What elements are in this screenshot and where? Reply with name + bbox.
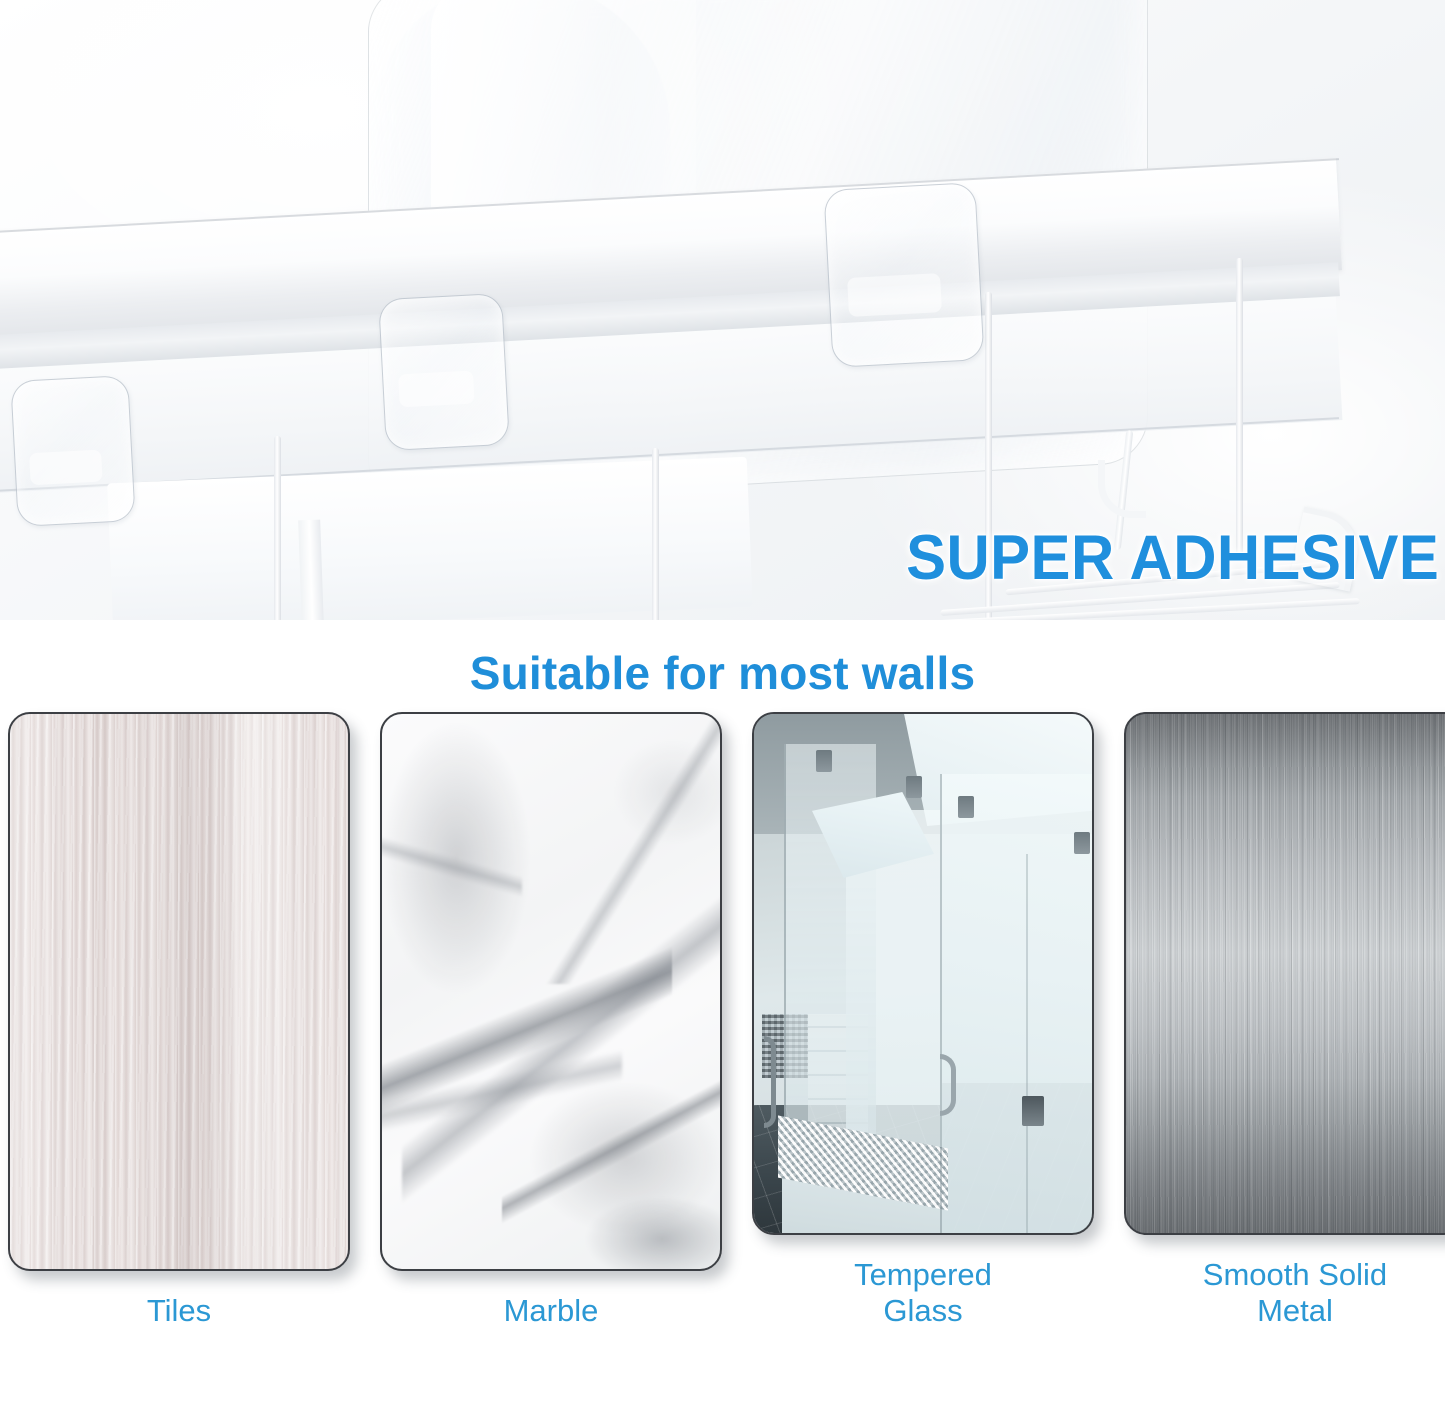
glass-door-handle xyxy=(940,1054,956,1116)
support-post xyxy=(274,436,281,620)
swatch-caption-metal: Smooth Solid Metal xyxy=(1124,1257,1445,1330)
swatch-caption-tiles: Tiles xyxy=(8,1293,350,1330)
glass-clip xyxy=(1074,832,1090,854)
glass-panel-divider xyxy=(1026,854,1028,1235)
product-infographic: SUPER ADHESIVE Suitable for most walls T… xyxy=(0,0,1445,1418)
support-post xyxy=(652,448,659,620)
hero-headline: SUPER ADHESIVE xyxy=(906,522,1439,594)
swatch-cell-tiles[interactable]: Tiles xyxy=(8,712,350,1330)
marble-vein xyxy=(380,714,522,1014)
adhesive-pad xyxy=(378,293,510,451)
swatch-cell-metal[interactable]: Smooth Solid Metal xyxy=(1124,712,1445,1330)
swatch-image-marble[interactable] xyxy=(380,712,722,1271)
swatch-caption-marble: Marble xyxy=(380,1293,722,1330)
adhesive-pad xyxy=(10,375,135,527)
wall-material-swatch-row: Tiles Marble xyxy=(8,712,1437,1330)
swatch-image-tiles[interactable] xyxy=(8,712,350,1271)
shower-fixture xyxy=(764,1036,776,1128)
swatch-cell-tempered-glass[interactable]: Tempered Glass xyxy=(752,712,1094,1330)
hero-product-photo: SUPER ADHESIVE xyxy=(0,0,1445,620)
glass-clip xyxy=(816,750,832,772)
glass-clip xyxy=(958,796,974,818)
shelf-tray-lip xyxy=(298,520,324,620)
glass-clip xyxy=(906,776,922,798)
marble-vein xyxy=(532,712,722,984)
section-subheading: Suitable for most walls xyxy=(0,646,1445,700)
support-post xyxy=(1236,258,1243,558)
swatch-image-tempered-glass[interactable] xyxy=(752,712,1094,1235)
adhesive-pad xyxy=(823,182,984,368)
swatch-caption-tempered-glass: Tempered Glass xyxy=(752,1257,1094,1330)
marble-vein xyxy=(552,1114,722,1271)
swatch-cell-marble[interactable]: Marble xyxy=(380,712,722,1330)
swatch-image-metal[interactable] xyxy=(1124,712,1445,1235)
glass-door-hinge xyxy=(1022,1096,1044,1126)
glass-frosted-panel xyxy=(940,774,1094,1235)
suitable-walls-section: Suitable for most walls Tiles Marble xyxy=(0,620,1445,1418)
glass-panel-divider xyxy=(940,774,942,1235)
